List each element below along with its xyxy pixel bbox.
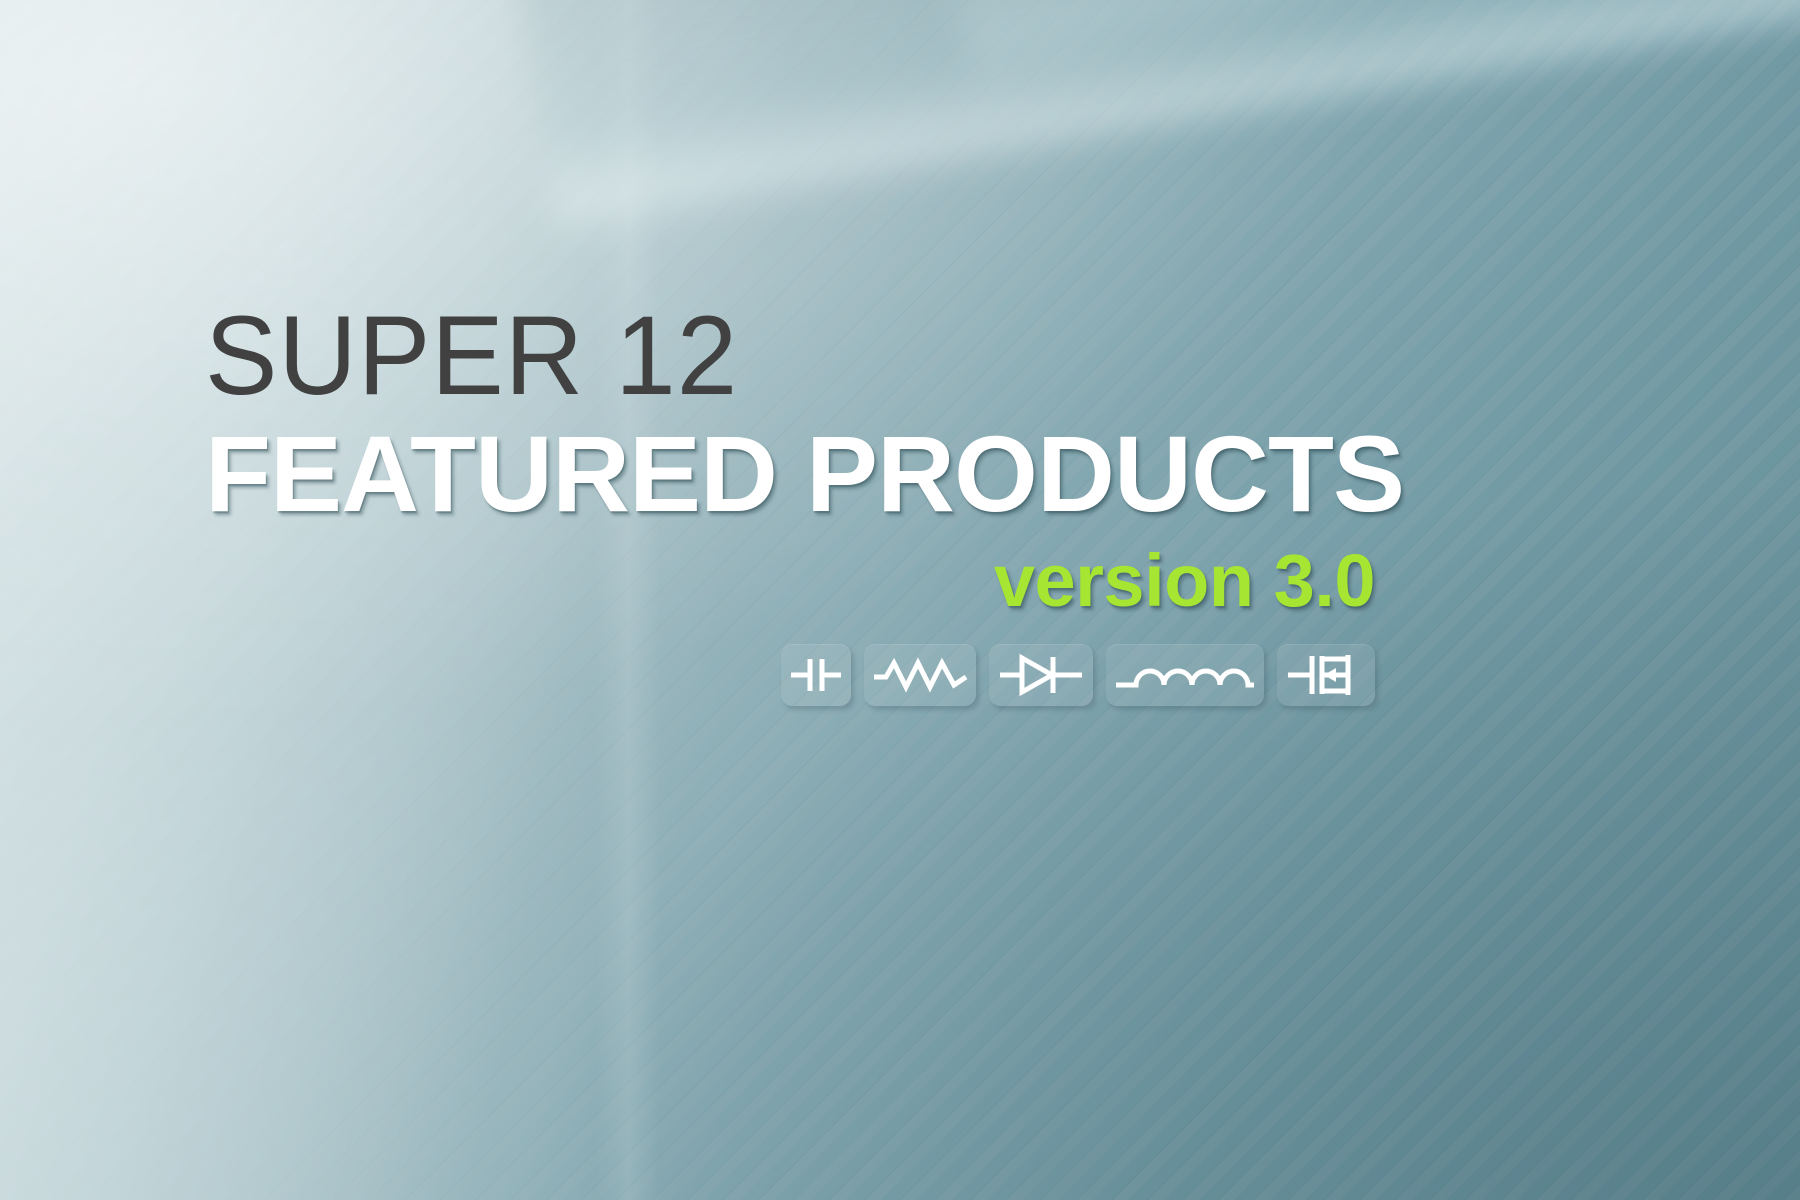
diode-icon[interactable]	[989, 644, 1093, 706]
component-icon-row	[205, 644, 1375, 706]
inductor-icon[interactable]	[1106, 644, 1264, 706]
title-block: SUPER 12 FEATURED PRODUCTS version 3.0	[205, 300, 1385, 706]
slide-canvas: SUPER 12 FEATURED PRODUCTS version 3.0	[0, 0, 1800, 1200]
page-title: FEATURED PRODUCTS	[205, 420, 1385, 528]
version-row: version 3.0	[205, 544, 1375, 618]
version-label: version 3.0	[994, 544, 1375, 618]
capacitor-icon[interactable]	[781, 644, 851, 706]
resistor-icon[interactable]	[864, 644, 976, 706]
transistor-icon[interactable]	[1277, 644, 1375, 706]
slide-eyebrow: SUPER 12	[205, 300, 1350, 412]
